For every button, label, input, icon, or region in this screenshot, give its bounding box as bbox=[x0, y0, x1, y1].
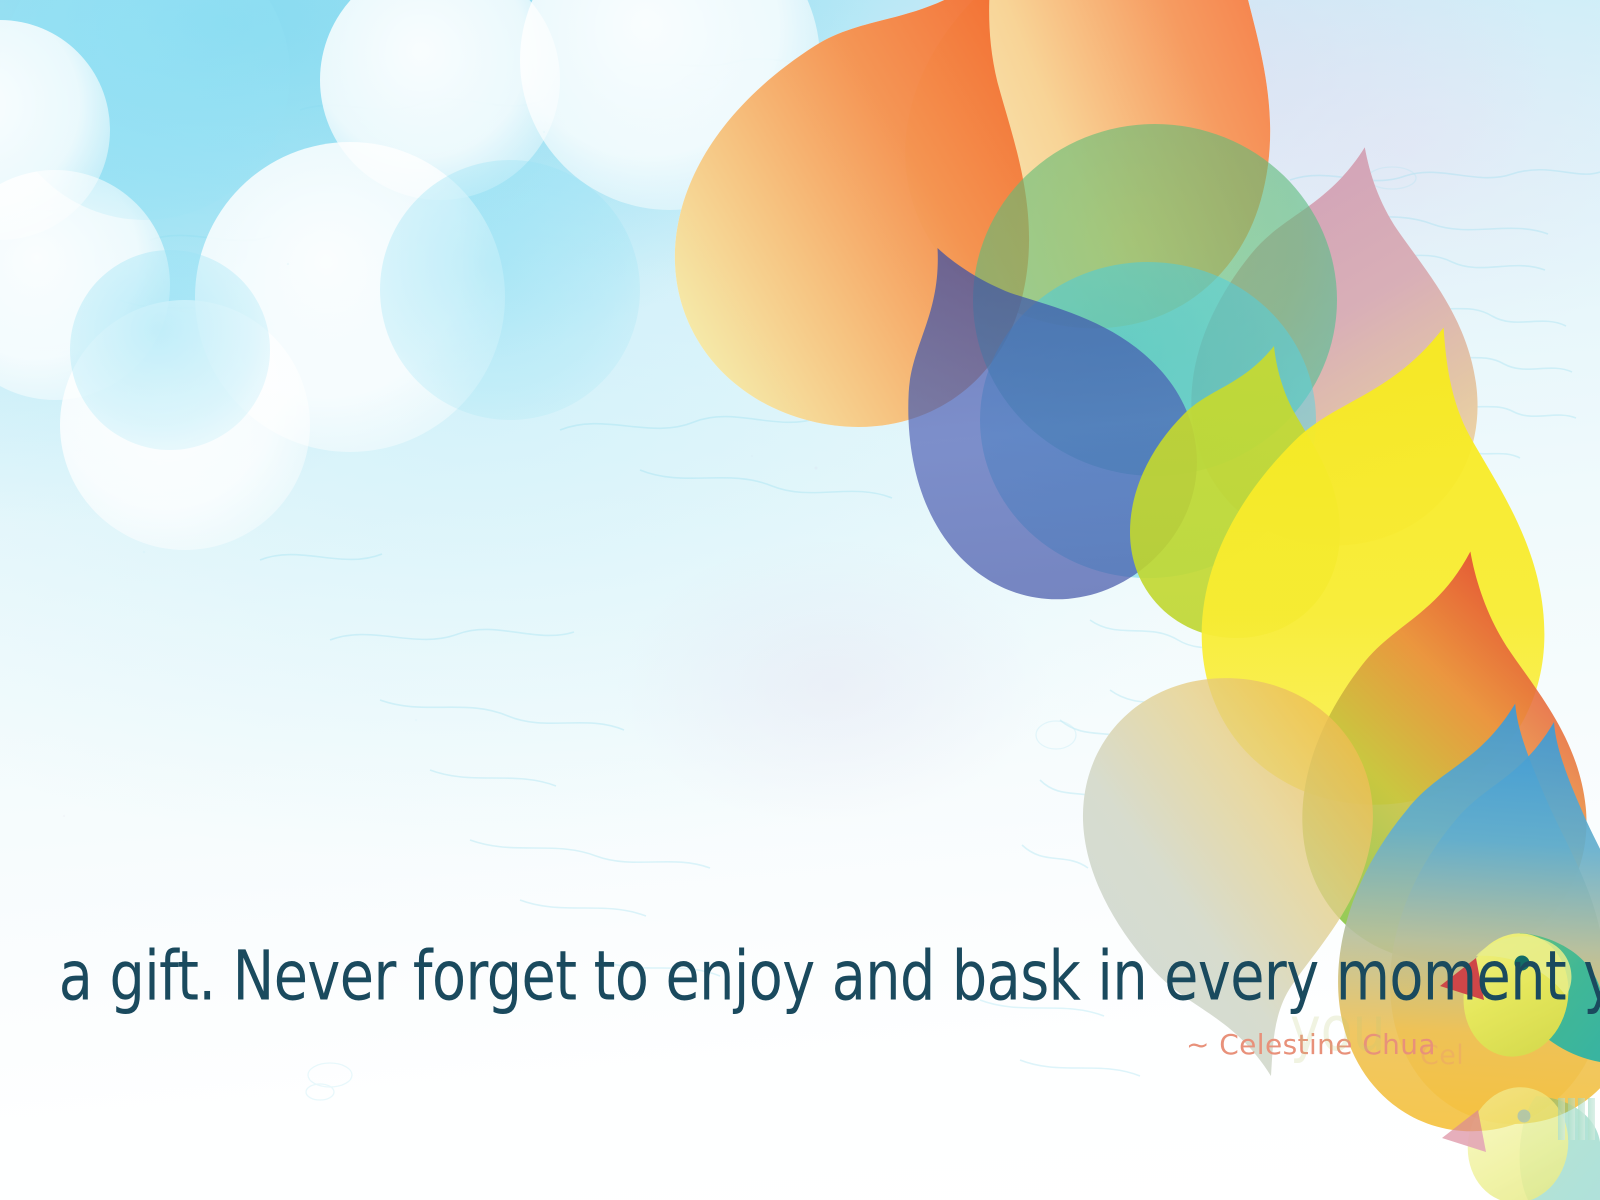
bird-reflection bbox=[1442, 1079, 1600, 1200]
quote-text: a gift. Never forget to enjoy and bask i… bbox=[59, 942, 1470, 1010]
quote-block: a gift. Never forget to enjoy and bask i… bbox=[0, 952, 1470, 1061]
quote-attribution: ~ Celestine Chua bbox=[0, 1028, 1470, 1061]
wallpaper-canvas: a gift. Never forget to enjoy and bask i… bbox=[0, 0, 1600, 1200]
